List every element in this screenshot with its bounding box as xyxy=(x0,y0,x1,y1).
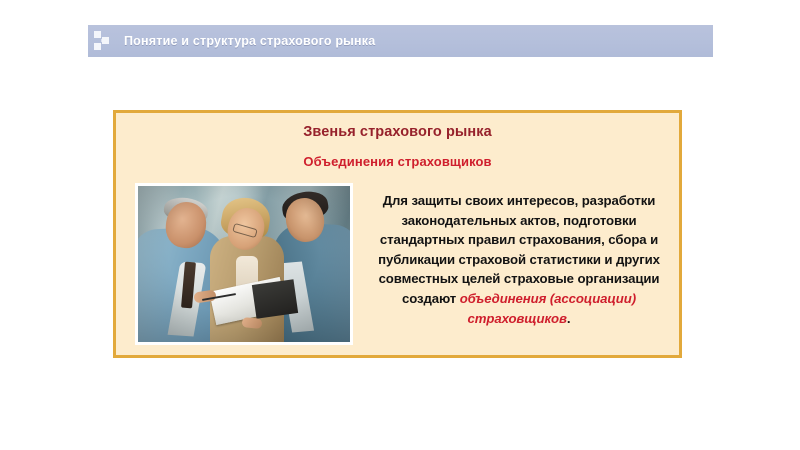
paragraph-plain-2: . xyxy=(567,311,571,326)
slide-header-bar: Понятие и структура страхового рынка xyxy=(88,25,713,57)
heading-primary: Звенья страхового рынка xyxy=(116,124,679,140)
content-box: Звенья страхового рынка Объединения стра… xyxy=(113,110,682,358)
business-people-photo xyxy=(138,186,350,342)
body-paragraph: Для защиты своих интересов, разработки з… xyxy=(364,191,674,328)
photo-frame xyxy=(135,183,353,345)
slide-canvas: Понятие и структура страхового рынка Зве… xyxy=(0,0,800,450)
paragraph-emphasis: объединения (ассоциации) страховщиков xyxy=(460,291,636,326)
heading-secondary: Объединения страховщиков xyxy=(116,154,679,169)
page-title: Понятие и структура страхового рынка xyxy=(124,34,375,48)
squares-stepped-icon xyxy=(92,28,118,54)
paragraph-plain-1: Для защиты своих интересов, разработки з… xyxy=(378,193,660,306)
content-box-inner: Звенья страхового рынка Объединения стра… xyxy=(116,113,679,355)
